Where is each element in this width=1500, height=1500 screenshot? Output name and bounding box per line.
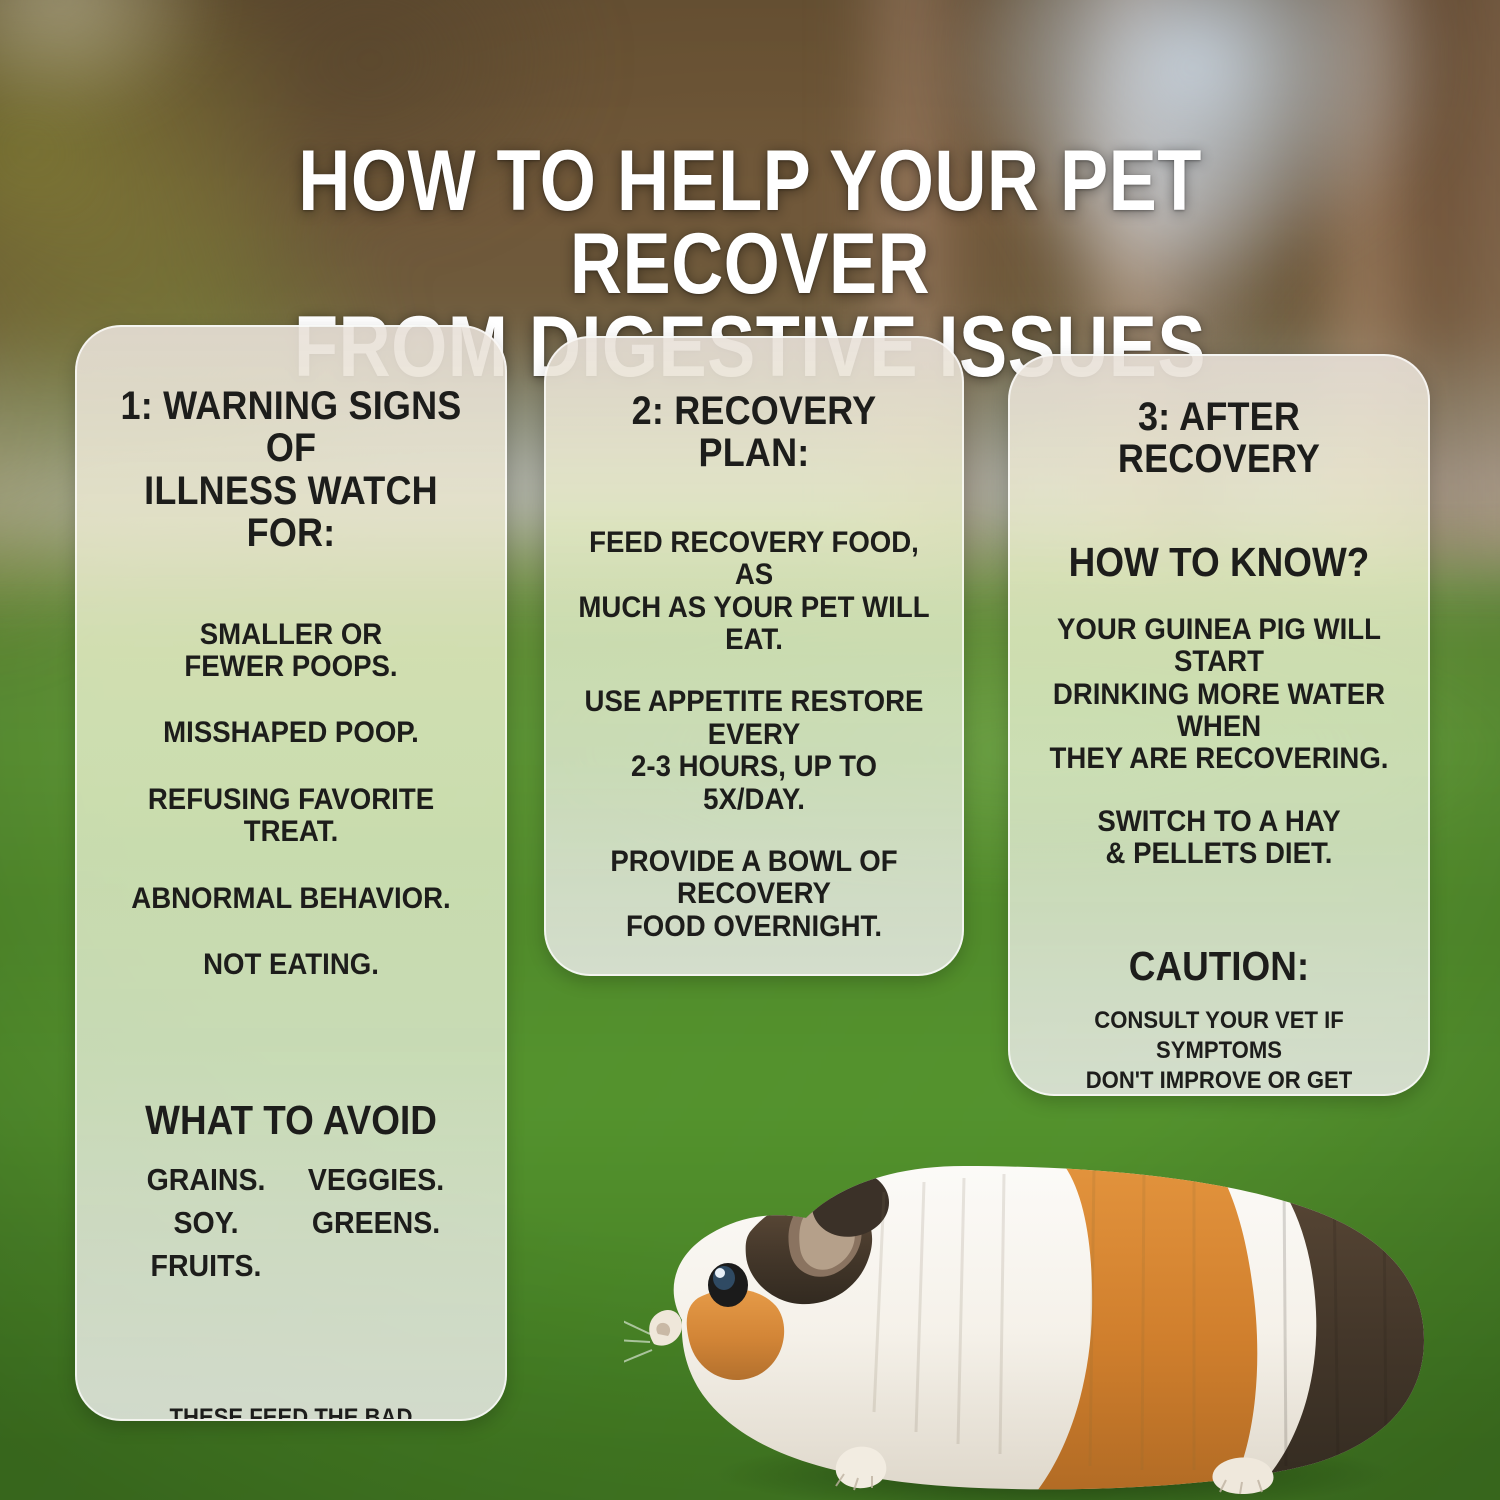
list-item: USE APPETITE RESTORE EVERY 2-3 HOURS, UP… xyxy=(577,686,930,816)
pig-body-group xyxy=(624,1082,1472,1500)
avoid-item-soy: SOY. xyxy=(132,1207,279,1240)
card3-note-1-line-2: DRINKING MORE WATER WHEN xyxy=(1053,678,1385,743)
page-title-line-1: HOW TO HELP YOUR PET RECOVER xyxy=(120,140,1380,307)
card2-step-1-line-2: MUCH AS YOUR PET WILL EAT. xyxy=(578,591,929,656)
avoid-item-greens: GREENS. xyxy=(302,1207,449,1240)
card3-note-2-line-1: SWITCH TO A HAY xyxy=(1097,805,1340,838)
list-item: REFUSING FAVORITE TREAT. xyxy=(109,784,473,849)
card2-step-1-line-1: FEED RECOVERY FOOD, AS xyxy=(589,526,919,591)
card3-note-1-line-1: YOUR GUINEA PIG WILL START xyxy=(1057,613,1381,678)
card1-heading-line-2: ILLNESS WATCH FOR: xyxy=(144,469,438,555)
card2-step-4-line-1: OFFER UNLIMITED HAY ALL xyxy=(597,972,912,976)
guinea-pig-photo xyxy=(624,1082,1472,1500)
avoid-item-fruits: FRUITS. xyxy=(132,1250,279,1283)
avoid-item-veggies: VEGGIES. xyxy=(302,1164,449,1197)
card1-heading: 1: WARNING SIGNS OF ILLNESS WATCH FOR: xyxy=(113,385,469,555)
card1-sign-3: REFUSING FAVORITE TREAT. xyxy=(148,783,434,848)
card3-note-1-line-3: THEY ARE RECOVERING. xyxy=(1050,742,1389,775)
card2-step-2-line-2: 2-3 HOURS, UP TO 5X/DAY. xyxy=(631,750,877,815)
list-item: OFFER UNLIMITED HAY ALL DAY & ALL NIGHT. xyxy=(577,973,930,976)
card2-heading: 2: RECOVERY PLAN: xyxy=(581,390,927,475)
card3-caution-heading: CAUTION: xyxy=(1045,945,1392,988)
infographic-poster: HOW TO HELP YOUR PET RECOVER FROM DIGEST… xyxy=(0,0,1500,1500)
card2-steps-list: FEED RECOVERY FOOD, AS MUCH AS YOUR PET … xyxy=(562,527,946,976)
list-item: SWITCH TO A HAY & PELLETS DIET. xyxy=(1041,806,1396,871)
card1-footnote: THESE FEED THE BAD MICROBES CAUSING MUSH… xyxy=(109,1403,473,1421)
card1-sign-1-line-2: FEWER POOPS. xyxy=(184,650,397,683)
card1-signs-list: SMALLER OR FEWER POOPS. MISSHAPED POOP. … xyxy=(93,619,489,982)
card1-sign-4: ABNORMAL BEHAVIOR. xyxy=(131,882,450,915)
card-recovery-plan: 2: RECOVERY PLAN: FEED RECOVERY FOOD, AS… xyxy=(544,336,964,976)
card-after-recovery: 3: AFTER RECOVERY HOW TO KNOW? YOUR GUIN… xyxy=(1008,354,1430,1096)
list-item: MISSHAPED POOP. xyxy=(109,717,473,749)
list-item: PROVIDE A BOWL OF RECOVERY FOOD OVERNIGH… xyxy=(577,846,930,943)
card1-avoid-list: GRAINS. VEGGIES. SOY. GREENS. FRUITS. xyxy=(126,1164,456,1283)
pig-whiskers xyxy=(624,1318,652,1364)
card2-step-3-line-1: PROVIDE A BOWL OF RECOVERY xyxy=(610,845,897,910)
list-item: SMALLER OR FEWER POOPS. xyxy=(109,619,473,684)
list-item: NOT EATING. xyxy=(109,949,473,981)
pig-eye-highlight xyxy=(715,1268,725,1278)
card1-sign-2: MISSHAPED POOP. xyxy=(163,716,419,749)
card1-heading-line-1: 1: WARNING SIGNS OF xyxy=(121,384,462,470)
avoid-item-blank xyxy=(302,1250,449,1283)
card3-caution-line-1: CONSULT YOUR VET IF SYMPTOMS xyxy=(1094,1007,1343,1064)
card3-sub-heading: HOW TO KNOW? xyxy=(1045,541,1392,584)
list-item: ABNORMAL BEHAVIOR. xyxy=(109,883,473,915)
card3-note-2-line-2: & PELLETS DIET. xyxy=(1106,837,1333,870)
list-item: FEED RECOVERY FOOD, AS MUCH AS YOUR PET … xyxy=(577,527,930,657)
card2-step-2-line-1: USE APPETITE RESTORE EVERY xyxy=(585,685,924,750)
pig-eye-iris xyxy=(713,1266,735,1290)
card1-footnote-line-1: THESE FEED THE BAD MICROBES xyxy=(170,1404,413,1421)
card3-heading: 3: AFTER RECOVERY xyxy=(1045,396,1392,481)
card1-sign-5: NOT EATING. xyxy=(203,948,379,981)
list-item: YOUR GUINEA PIG WILL START DRINKING MORE… xyxy=(1041,614,1396,776)
avoid-item-grains: GRAINS. xyxy=(132,1164,279,1197)
card-warning-signs: 1: WARNING SIGNS OF ILLNESS WATCH FOR: S… xyxy=(75,325,507,1421)
card2-step-3-line-2: FOOD OVERNIGHT. xyxy=(626,910,882,943)
card1-sign-1-line-1: SMALLER OR xyxy=(200,618,382,651)
card1-avoid-heading: WHAT TO AVOID xyxy=(113,1099,469,1142)
card3-notes-list: YOUR GUINEA PIG WILL START DRINKING MORE… xyxy=(1026,614,1412,871)
